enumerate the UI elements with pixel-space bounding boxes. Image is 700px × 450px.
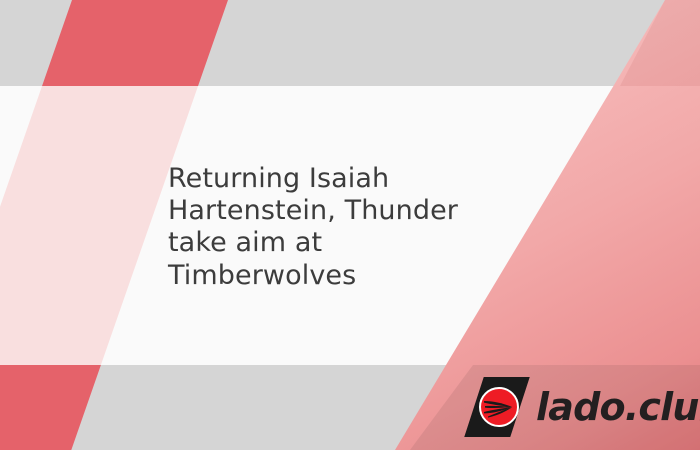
diagonal-accent-stripe-top-segment (0, 0, 700, 86)
page-title: Returning Isaiah Hartenstein, Thunder ta… (168, 131, 518, 292)
brand-name: lado.club (536, 388, 700, 426)
article-share-card: Returning Isaiah Hartenstein, Thunder ta… (0, 0, 700, 450)
logo-red-disc (479, 387, 519, 427)
stripe-shape (0, 365, 228, 450)
brand-logo[interactable]: lado.club (466, 375, 700, 439)
lado-swoosh-disc-icon (466, 375, 532, 439)
stripe-shape (42, 0, 228, 86)
